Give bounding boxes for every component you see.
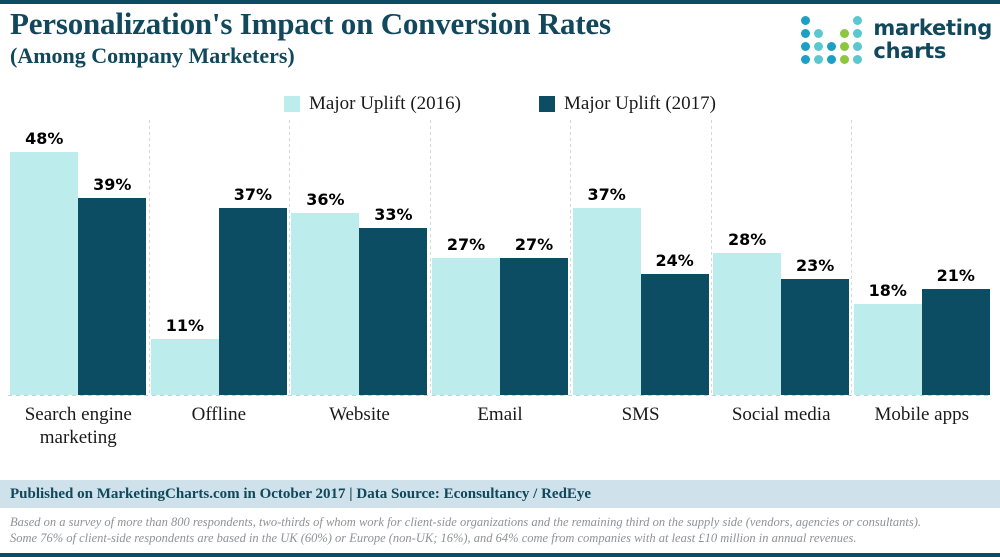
bar-5-series-2[interactable]: 24%: [641, 120, 709, 395]
logo-wordmark: marketing charts: [873, 17, 992, 63]
logo-dot-grid-icon: [801, 16, 862, 64]
logo-dot-1-0: [801, 29, 810, 38]
logo-word-charts: charts: [873, 40, 992, 63]
footnotes: Based on a survey of more than 800 respo…: [0, 510, 1000, 553]
bar-rect: [573, 208, 641, 395]
bar-group-6: 28%23%: [711, 120, 852, 395]
legend-item-2[interactable]: Major Uplift (2017): [539, 93, 716, 115]
bar-groups: 48%39%11%37%36%33%27%27%37%24%28%23%18%2…: [8, 120, 992, 395]
bar-value-label: 21%: [922, 266, 990, 289]
group-separator: [711, 120, 712, 395]
marketing-charts-logo: marketing charts: [801, 12, 992, 68]
logo-word-marketing: marketing: [873, 17, 992, 40]
logo-dot-2-1: [814, 42, 823, 51]
bar-rect: [219, 208, 287, 395]
bar-group-2: 11%37%: [149, 120, 290, 395]
logo-dot-1-1: [814, 29, 823, 38]
bar-2-series-1[interactable]: 11%: [151, 120, 219, 395]
category-label-3: Website: [289, 400, 430, 460]
logo-dot-0-3: [840, 16, 849, 25]
bar-rect: [78, 198, 146, 395]
group-separator: [149, 120, 150, 395]
bar-group-4: 27%27%: [430, 120, 571, 395]
bar-value-label: 11%: [151, 316, 219, 339]
logo-dot-0-1: [814, 16, 823, 25]
bar-4-series-1[interactable]: 27%: [432, 120, 500, 395]
group-separator: [289, 120, 290, 395]
bar-7-series-2[interactable]: 21%: [922, 120, 990, 395]
bottom-accent-rule: [0, 553, 1000, 557]
legend-swatch-icon: [284, 96, 300, 112]
chart-plot-area: 48%39%11%37%36%33%27%27%37%24%28%23%18%2…: [0, 120, 1000, 395]
bar-rect: [922, 289, 990, 395]
bar-value-label: 33%: [359, 205, 427, 228]
bar-value-label: 27%: [500, 235, 568, 258]
x-axis-line: [8, 395, 992, 396]
bar-5-series-1[interactable]: 37%: [573, 120, 641, 395]
category-label-7: Mobile apps: [851, 400, 992, 460]
logo-dot-1-2: [827, 29, 836, 38]
logo-dot-0-2: [827, 16, 836, 25]
bar-rect: [359, 228, 427, 395]
logo-dot-3-4: [853, 55, 862, 64]
bar-2-series-2[interactable]: 37%: [219, 120, 287, 395]
bar-group-3: 36%33%: [289, 120, 430, 395]
footnote-line: Some 76% of client-side respondents are …: [10, 530, 990, 546]
group-separator: [430, 120, 431, 395]
page-title: Personalization's Impact on Conversion R…: [10, 6, 611, 42]
category-label-1: Search engine marketing: [8, 400, 149, 460]
bar-rect: [151, 339, 219, 395]
bar-group-7: 18%21%: [851, 120, 992, 395]
legend-label: Major Uplift (2017): [564, 93, 716, 115]
bar-1-series-1[interactable]: 48%: [10, 120, 78, 395]
legend-item-1[interactable]: Major Uplift (2016): [284, 93, 461, 115]
logo-dot-2-4: [853, 42, 862, 51]
bar-value-label: 24%: [641, 251, 709, 274]
bar-rect: [500, 258, 568, 395]
bar-value-label: 28%: [713, 230, 781, 253]
bar-value-label: 48%: [10, 129, 78, 152]
bar-rect: [291, 213, 359, 395]
chart-legend: Major Uplift (2016)Major Uplift (2017): [0, 90, 1000, 118]
logo-dot-2-0: [801, 42, 810, 51]
bar-6-series-2[interactable]: 23%: [781, 120, 849, 395]
bar-rect: [713, 253, 781, 395]
logo-dot-1-3: [840, 29, 849, 38]
bar-value-label: 36%: [291, 190, 359, 213]
legend-label: Major Uplift (2016): [309, 93, 461, 115]
bar-value-label: 23%: [781, 256, 849, 279]
bar-value-label: 27%: [432, 235, 500, 258]
category-label-4: Email: [430, 400, 571, 460]
logo-dot-0-4: [853, 16, 862, 25]
bar-value-label: 18%: [854, 281, 922, 304]
group-separator: [570, 120, 571, 395]
group-separator: [851, 120, 852, 395]
logo-dot-2-3: [840, 42, 849, 51]
bar-value-label: 39%: [78, 175, 146, 198]
page-subtitle: (Among Company Marketers): [10, 43, 295, 69]
published-bar: Published on MarketingCharts.com in Octo…: [0, 480, 1000, 508]
legend-swatch-icon: [539, 96, 555, 112]
logo-dot-2-2: [827, 42, 836, 51]
bar-3-series-1[interactable]: 36%: [291, 120, 359, 395]
category-label-6: Social media: [711, 400, 852, 460]
chart-page: Personalization's Impact on Conversion R…: [0, 0, 1000, 557]
logo-dot-0-0: [801, 16, 810, 25]
bar-4-series-2[interactable]: 27%: [500, 120, 568, 395]
logo-dot-1-4: [853, 29, 862, 38]
logo-dot-3-3: [840, 55, 849, 64]
bar-rect: [781, 279, 849, 395]
bar-rect: [10, 152, 78, 395]
category-label-5: SMS: [570, 400, 711, 460]
bar-value-label: 37%: [219, 185, 287, 208]
bar-3-series-2[interactable]: 33%: [359, 120, 427, 395]
bar-7-series-1[interactable]: 18%: [854, 120, 922, 395]
bar-rect: [432, 258, 500, 395]
bar-value-label: 37%: [573, 185, 641, 208]
bar-6-series-1[interactable]: 28%: [713, 120, 781, 395]
footnote-line: Based on a survey of more than 800 respo…: [10, 514, 990, 530]
x-axis-category-labels: Search engine marketingOfflineWebsiteEma…: [8, 400, 992, 460]
bar-group-1: 48%39%: [8, 120, 149, 395]
logo-dot-3-1: [814, 55, 823, 64]
published-text: Published on MarketingCharts.com in Octo…: [0, 486, 591, 503]
bar-rect: [854, 304, 922, 395]
category-label-2: Offline: [149, 400, 290, 460]
chart-header: Personalization's Impact on Conversion R…: [0, 4, 1000, 82]
logo-dot-3-2: [827, 55, 836, 64]
bar-rect: [641, 274, 709, 396]
bar-1-series-2[interactable]: 39%: [78, 120, 146, 395]
logo-dot-3-0: [801, 55, 810, 64]
bar-group-5: 37%24%: [570, 120, 711, 395]
